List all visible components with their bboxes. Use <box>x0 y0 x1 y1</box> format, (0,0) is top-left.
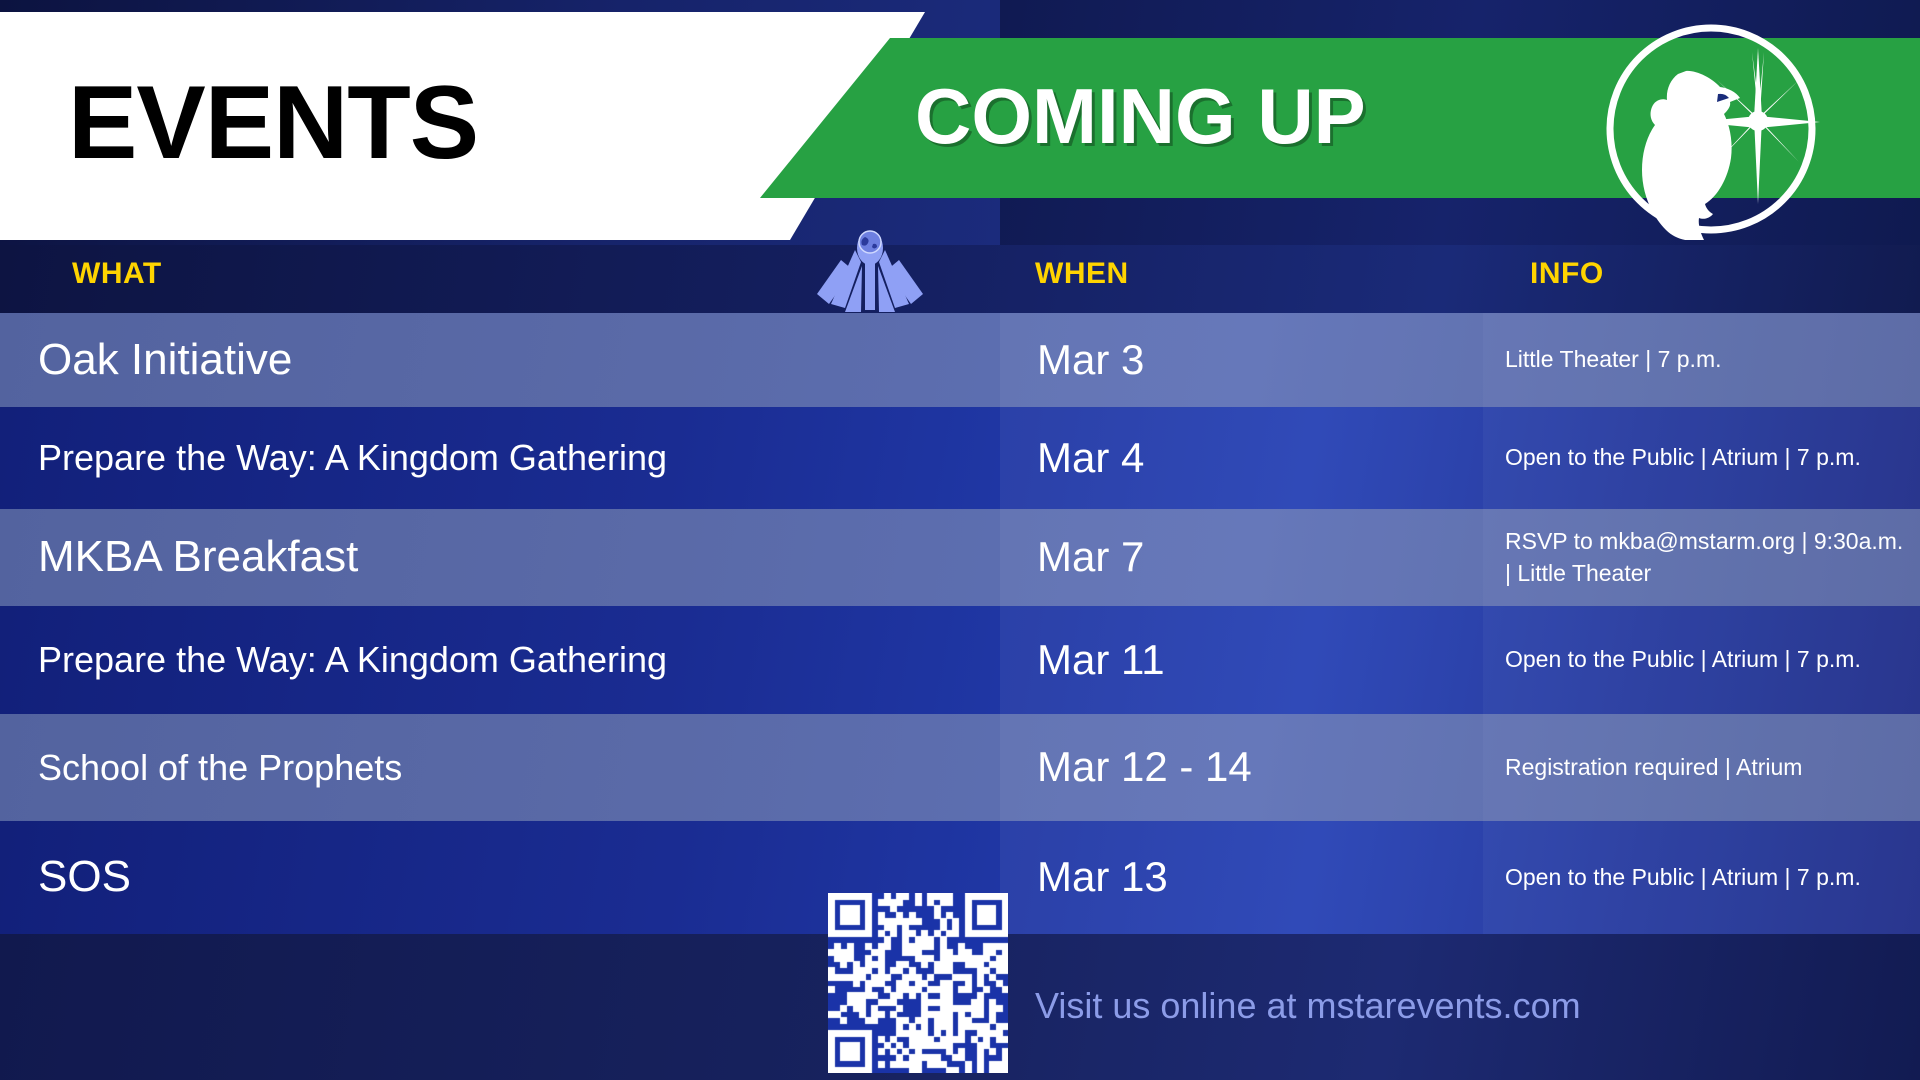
event-info: Registration required | Atrium <box>1505 752 1802 783</box>
cell-info: RSVP to mkba@mstarm.org | 9:30a.m. | Lit… <box>1483 509 1920 606</box>
table-column-header: WHAT WHEN INFO <box>0 245 1920 313</box>
cell-when: Mar 13 <box>1000 821 1483 934</box>
cell-info: Open to the Public | Atrium | 7 p.m. <box>1483 821 1920 934</box>
table-row[interactable]: Oak Initiative Mar 3 Little Theater | 7 … <box>0 313 1920 407</box>
visit-online-text: Visit us online at mstarevents.com <box>1035 985 1581 1027</box>
person-with-globe-icon <box>805 228 935 316</box>
event-name: MKBA Breakfast <box>38 534 358 580</box>
event-name: Prepare the Way: A Kingdom Gathering <box>38 439 667 477</box>
cell-info: Registration required | Atrium <box>1483 714 1920 821</box>
cell-info: Open to the Public | Atrium | 7 p.m. <box>1483 407 1920 509</box>
eagle-star-logo-icon <box>1600 18 1822 240</box>
cell-what: MKBA Breakfast <box>0 509 1000 606</box>
events-banner: EVENTS <box>0 12 925 240</box>
cell-what: Prepare the Way: A Kingdom Gathering <box>0 407 1000 509</box>
cell-info: Open to the Public | Atrium | 7 p.m. <box>1483 606 1920 714</box>
event-name: Prepare the Way: A Kingdom Gathering <box>38 641 667 679</box>
event-name: Oak Initiative <box>38 337 292 383</box>
event-date: Mar 4 <box>1037 436 1144 480</box>
cell-what: Prepare the Way: A Kingdom Gathering <box>0 606 1000 714</box>
event-date: Mar 11 <box>1037 638 1165 682</box>
events-table: Oak Initiative Mar 3 Little Theater | 7 … <box>0 313 1920 934</box>
header: EVENTS COMING UP <box>0 0 1920 245</box>
table-row[interactable]: MKBA Breakfast Mar 7 RSVP to mkba@mstarm… <box>0 509 1920 606</box>
coming-up-title: COMING UP <box>915 77 1366 155</box>
cell-when: Mar 12 - 14 <box>1000 714 1483 821</box>
cell-when: Mar 7 <box>1000 509 1483 606</box>
event-info: Open to the Public | Atrium | 7 p.m. <box>1505 442 1861 473</box>
table-row[interactable]: School of the Prophets Mar 12 - 14 Regis… <box>0 714 1920 821</box>
event-info: Open to the Public | Atrium | 7 p.m. <box>1505 644 1861 675</box>
event-date: Mar 7 <box>1037 535 1144 579</box>
event-date: Mar 3 <box>1037 338 1144 382</box>
cell-when: Mar 3 <box>1000 313 1483 407</box>
cell-when: Mar 4 <box>1000 407 1483 509</box>
event-name: SOS <box>38 854 131 900</box>
table-row[interactable]: Prepare the Way: A Kingdom Gathering Mar… <box>0 606 1920 714</box>
event-info: Open to the Public | Atrium | 7 p.m. <box>1505 862 1861 893</box>
event-name: School of the Prophets <box>38 749 402 787</box>
cell-info: Little Theater | 7 p.m. <box>1483 313 1920 407</box>
event-date: Mar 12 - 14 <box>1037 745 1252 789</box>
table-row[interactable]: Prepare the Way: A Kingdom Gathering Mar… <box>0 407 1920 509</box>
cell-what: Oak Initiative <box>0 313 1000 407</box>
column-header-what: WHAT <box>72 257 162 291</box>
event-date: Mar 13 <box>1037 855 1168 899</box>
cell-what: School of the Prophets <box>0 714 1000 821</box>
event-info: Little Theater | 7 p.m. <box>1505 344 1722 375</box>
column-header-when: WHEN <box>1035 257 1129 291</box>
event-info: RSVP to mkba@mstarm.org | 9:30a.m. | Lit… <box>1505 526 1904 588</box>
page-title: EVENTS <box>68 71 478 175</box>
column-header-info: INFO <box>1530 257 1604 291</box>
cell-when: Mar 11 <box>1000 606 1483 714</box>
qr-code-icon[interactable] <box>828 893 1008 1073</box>
